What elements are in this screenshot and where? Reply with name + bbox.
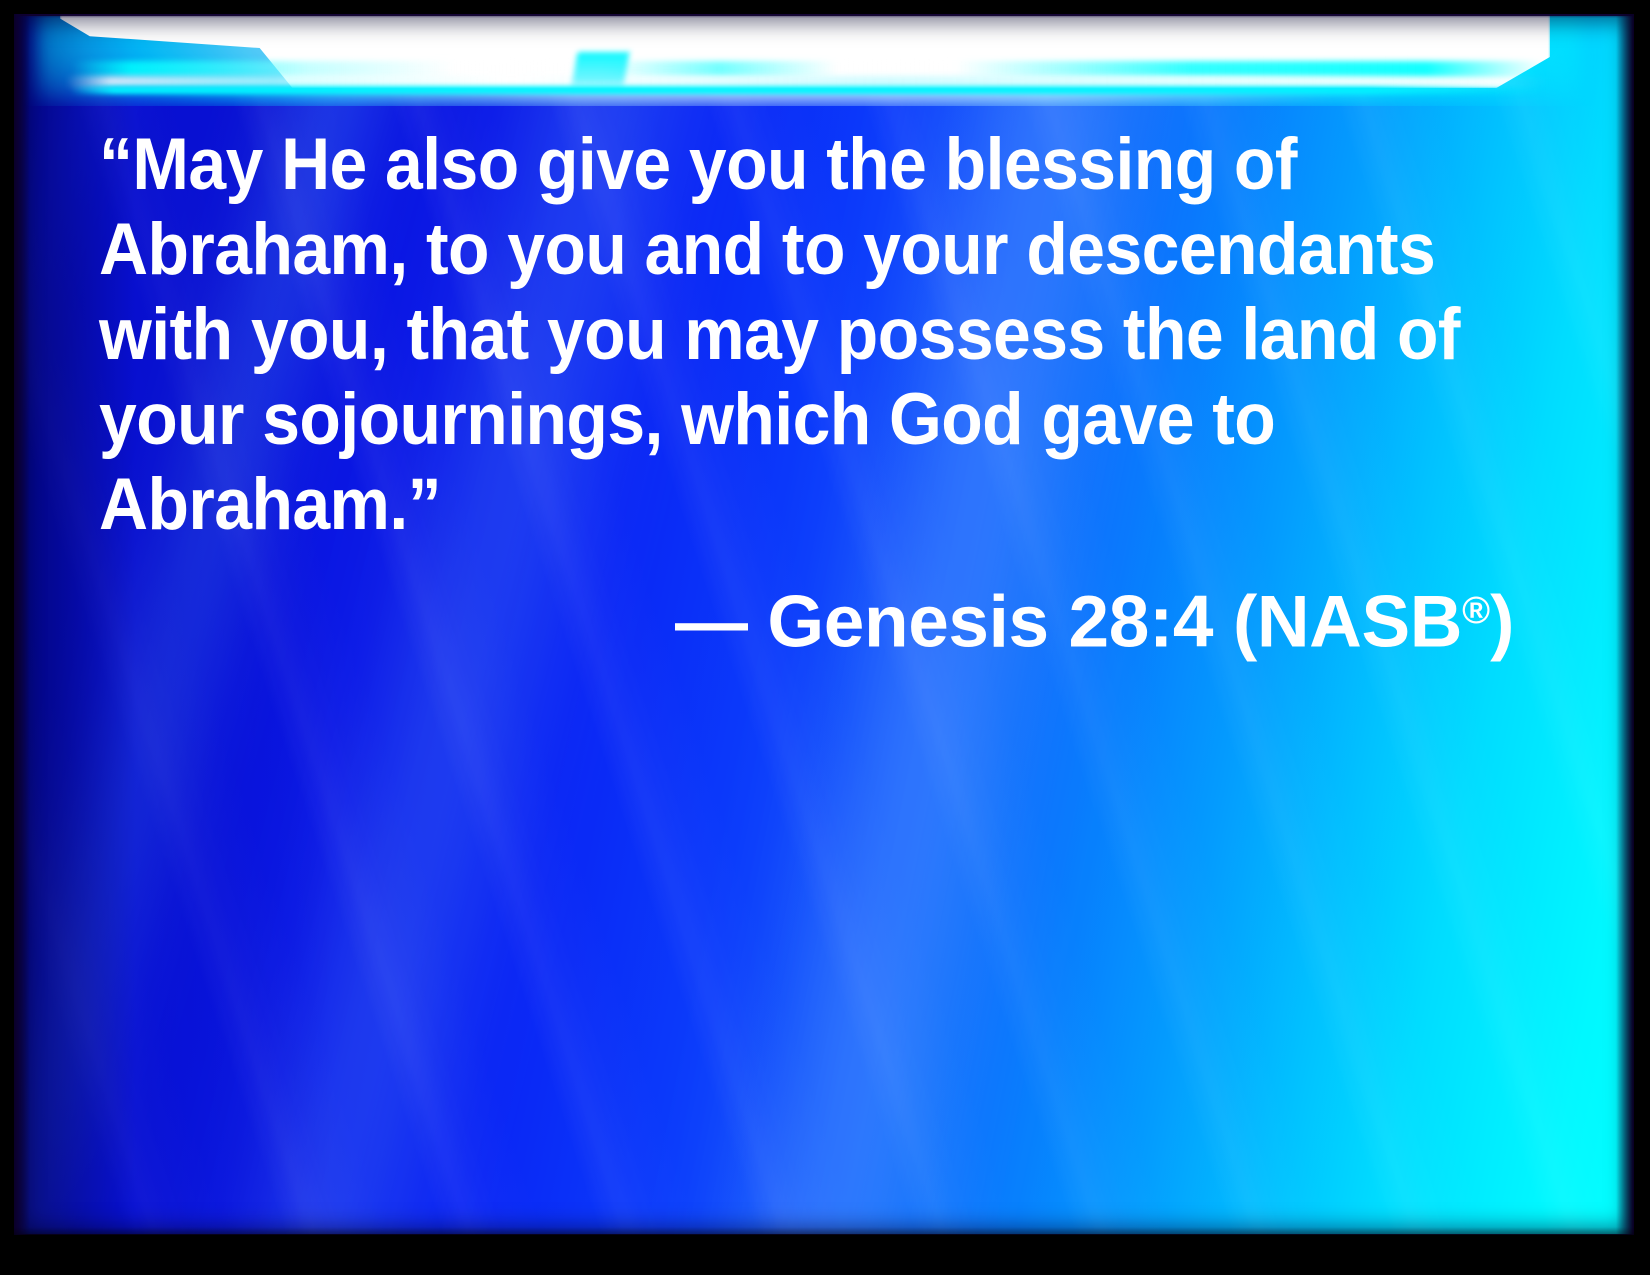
- verse-line-5: Abraham.”: [99, 462, 1429, 547]
- verse-line-4: your sojournings, which God gave to: [99, 377, 1429, 462]
- verse-line-3: with you, that you may possess the land …: [99, 292, 1429, 377]
- verse-attribution: — Genesis 28:4 (NASB®): [14, 569, 1514, 665]
- slide-panel: “May He also give you the blessing of Ab…: [14, 14, 1636, 1236]
- band-cyan-streak-upper: [72, 61, 1544, 77]
- registered-trademark-icon: ®: [1462, 590, 1490, 632]
- verse-line-1: “May He also give you the blessing of: [99, 122, 1429, 207]
- verse-slide: “May He also give you the blessing of Ab…: [0, 0, 1650, 1275]
- top-glow-band: [14, 14, 1636, 106]
- band-bottom-edge: [70, 86, 1546, 94]
- attribution-suffix: ): [1490, 582, 1514, 663]
- verse-text-block: “May He also give you the blessing of Ab…: [99, 122, 1529, 547]
- attribution-prefix: — Genesis 28:4 (NASB: [675, 582, 1462, 663]
- verse-line-2: Abraham, to you and to your descendants: [99, 207, 1429, 292]
